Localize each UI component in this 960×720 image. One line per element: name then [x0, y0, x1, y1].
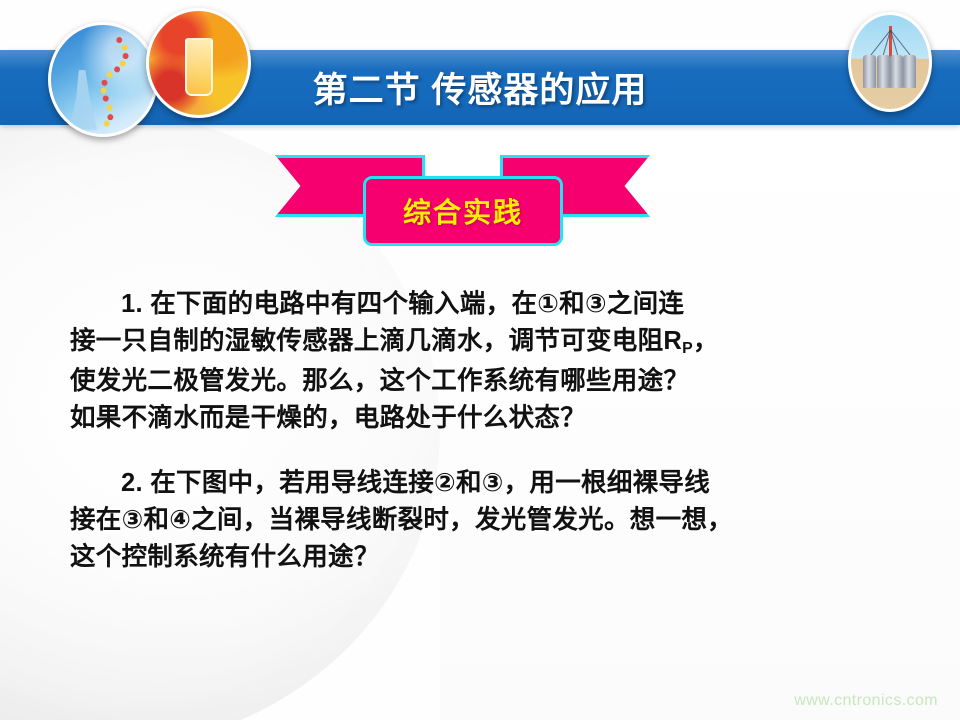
paragraph-1: 1. 在下面的电路中有四个输入端，在①和③之间连 接一只自制的湿敏传感器上滴几滴… — [70, 286, 900, 437]
grain-silo-circle-icon — [848, 12, 932, 112]
paragraph-1-line-2-text: 接一只自制的湿敏传感器上滴几滴水，调节可变电阻R — [70, 327, 682, 355]
silo-tank-shape — [877, 55, 890, 89]
slide-canvas: 第二节 传感器的应用 — [0, 0, 960, 720]
footer-watermark: www.cntronics.com — [794, 692, 938, 710]
dna-helix-shape — [82, 31, 138, 128]
silo-tank-shape — [890, 55, 903, 89]
paragraph-1-line-4: 如果不滴水而是干燥的，电路处于什么状态？ — [70, 400, 900, 437]
ribbon-label: 综合实践 — [403, 191, 523, 231]
page-title-text: 第二节 传感器的应用 — [313, 62, 648, 113]
resistor-subscript: P — [682, 340, 693, 357]
paragraph-1-line-1: 1. 在下面的电路中有四个输入端，在①和③之间连 — [70, 286, 900, 323]
juice-glass-shape — [185, 38, 214, 96]
paragraph-2-line-3: 这个控制系统有什么用途？ — [70, 539, 900, 576]
section-ribbon: 综合实践 — [275, 150, 650, 250]
paragraph-2-line-2: 接在③和④之间，当裸导线断裂时，发光管发光。想一想， — [70, 502, 900, 539]
fruit-juice-circle-icon — [146, 8, 251, 118]
silo-tank-shape — [863, 55, 876, 89]
dna-microscope-circle-icon — [48, 22, 158, 137]
paragraph-2: 2. 在下图中，若用导线连接②和③，用一根细裸导线 接在③和④之间，当裸导线断裂… — [70, 465, 900, 576]
silo-tank-shape — [903, 55, 916, 89]
paragraph-1-line-2: 接一只自制的湿敏传感器上滴几滴水，调节可变电阻RP， — [70, 323, 900, 363]
paragraph-1-line-3: 使发光二极管发光。那么，这个工作系统有哪些用途？ — [70, 363, 900, 400]
content-body: 1. 在下面的电路中有四个输入端，在①和③之间连 接一只自制的湿敏传感器上滴几滴… — [70, 286, 900, 604]
ribbon-panel: 综合实践 — [363, 176, 563, 246]
paragraph-1-line-2-comma: ， — [693, 327, 719, 355]
paragraph-2-line-1: 2. 在下图中，若用导线连接②和③，用一根细裸导线 — [70, 465, 900, 502]
